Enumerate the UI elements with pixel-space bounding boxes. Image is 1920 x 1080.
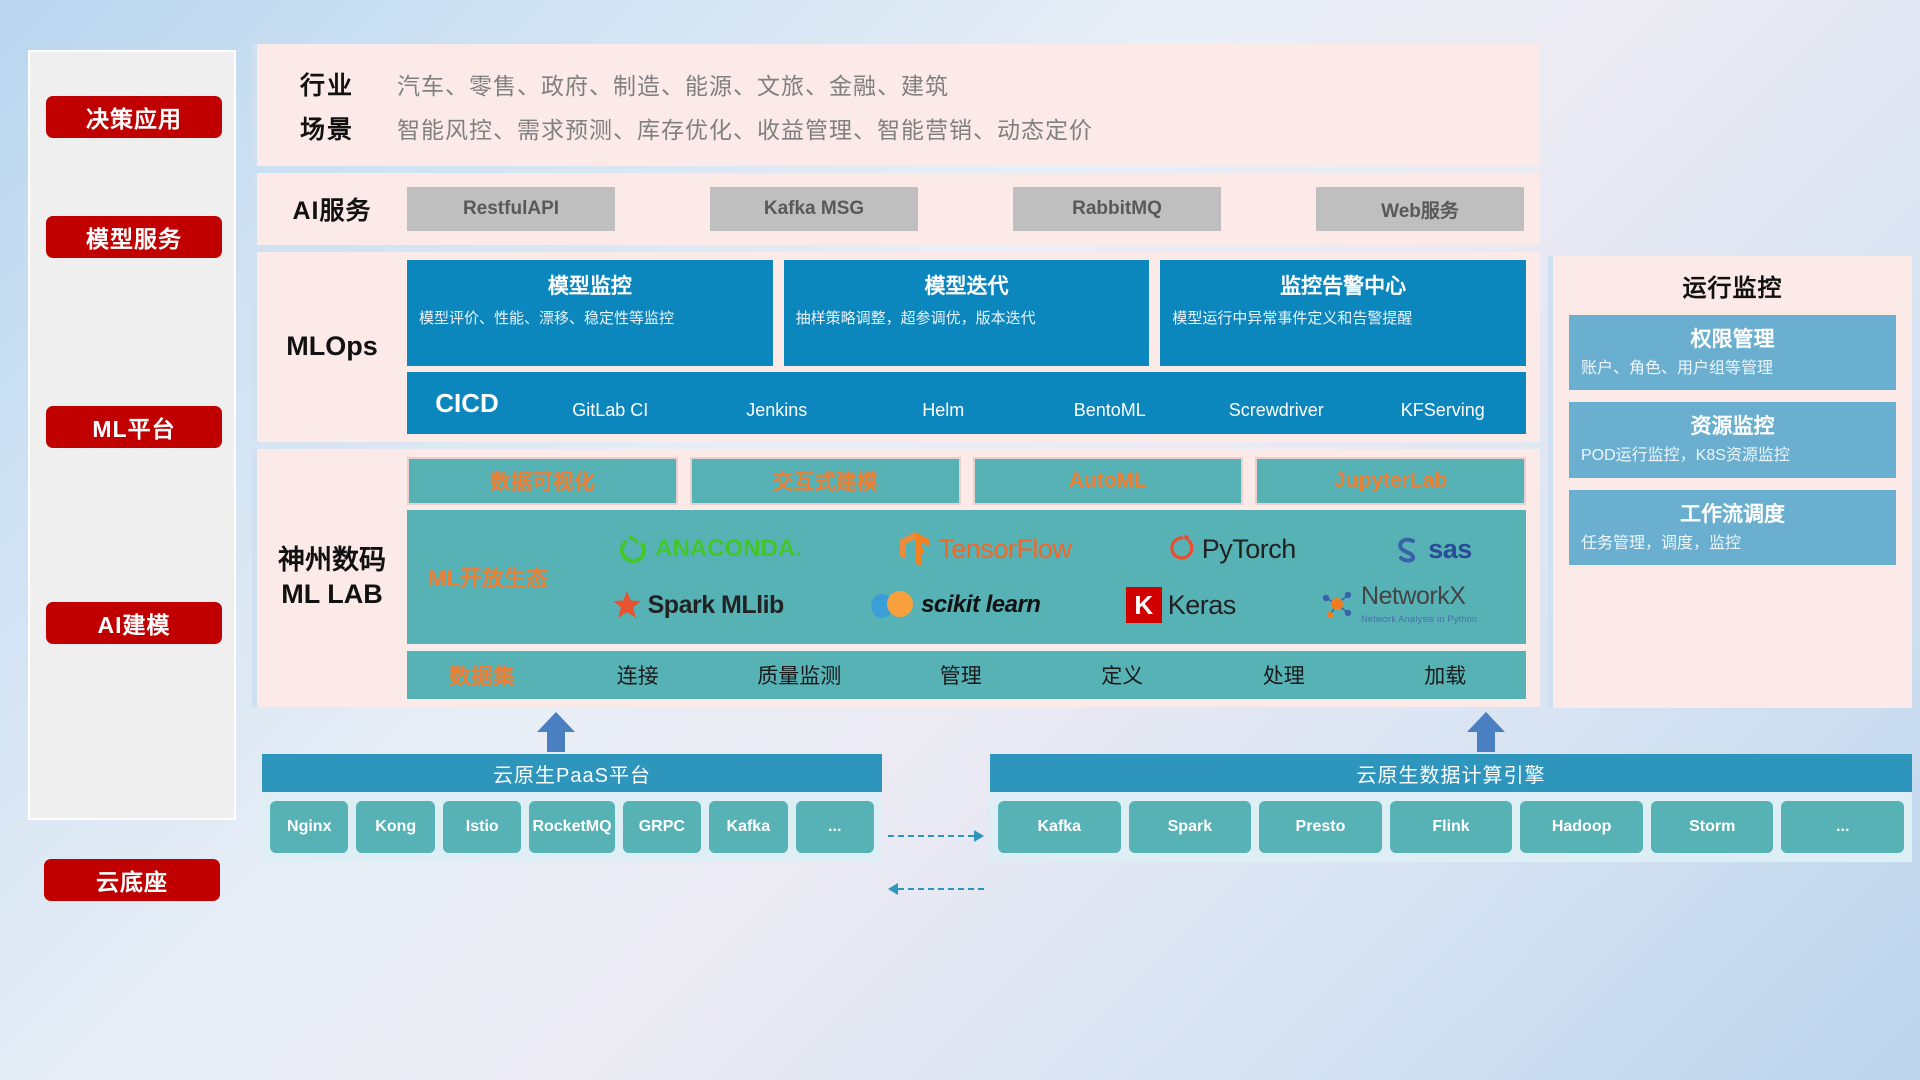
paas-chip-kong[interactable]: Kong [356,801,434,853]
industry-row: 行业 汽车、零售、政府、制造、能源、文旅、金融、建筑 [257,62,1540,106]
lab-tool-data-visualization[interactable]: 数据可视化 [407,457,678,505]
pytorch-icon [1168,533,1196,565]
monitor-card-workflow[interactable]: 工作流调度 任务管理，调度，监控 [1569,490,1896,565]
cicd-bar: CICD GitLab CI Jenkins Helm BentoML Scre… [407,372,1526,434]
mlops-card-model-iteration[interactable]: 模型迭代 抽样策略调整，超参调优，版本迭代 [784,260,1150,366]
card-title: 模型监控 [419,270,761,300]
spark-mllib-logo: Spark MLlib [612,590,784,620]
engine-chip-storm[interactable]: Storm [1651,801,1774,853]
dataset-item-connect[interactable]: 连接 [557,660,719,690]
mlops-card-model-monitoring[interactable]: 模型监控 模型评价、性能、漂移、稳定性等监控 [407,260,773,366]
keras-icon: K [1126,587,1162,623]
dataset-label: 数据集 [407,659,557,691]
industry-label: 行业 [257,66,397,102]
ml-ecosystem-logos: ANACONDA. TensorFlow [569,522,1520,632]
sas-logo: sas [1392,534,1472,565]
dataset-item-loading[interactable]: 加载 [1365,660,1527,690]
pytorch-logo-text: PyTorch [1202,534,1296,565]
ml-lab-label-line1: 神州数码 [278,545,386,575]
ai-service-chip-rabbitmq[interactable]: RabbitMQ [1013,187,1221,231]
cicd-item-gitlab-ci[interactable]: GitLab CI [527,400,694,421]
ml-lab-label: 神州数码 ML LAB [257,457,407,699]
card-desc: 账户、角色、用户组等管理 [1581,358,1884,380]
rail-item-ml-platform[interactable]: ML平台 [46,406,222,448]
dataset-row: 数据集 连接 质量监测 管理 定义 处理 加载 [407,649,1526,699]
pytorch-logo: PyTorch [1168,533,1296,565]
cicd-item-screwdriver[interactable]: Screwdriver [1193,400,1360,421]
ai-service-chip-kafka-msg[interactable]: Kafka MSG [710,187,918,231]
ml-ecosystem-label: ML开放生态 [413,561,563,593]
sas-icon [1392,534,1422,564]
logo-line-1: ANACONDA. TensorFlow [569,522,1520,576]
ml-lab-label-line2: ML LAB [281,579,383,609]
dataset-items: 连接 质量监测 管理 定义 处理 加载 [557,660,1526,690]
sas-logo-text: sas [1428,534,1472,565]
engine-title: 云原生数据计算引擎 [990,754,1912,792]
card-title: 权限管理 [1581,323,1884,353]
card-desc: 任务管理，调度，监控 [1581,533,1884,555]
rail-item-model-service[interactable]: 模型服务 [46,216,222,258]
ml-lab-tools: 数据可视化 交互式建模 AutoML JupyterLab [407,457,1526,505]
engine-chips: Kafka Spark Presto Flink Hadoop Storm ..… [990,792,1912,862]
cloud-base-section: 云原生PaaS平台 Nginx Kong Istio RocketMQ GRPC… [252,712,1912,862]
ai-service-label: AI服务 [257,191,407,227]
cicd-title: CICD [407,388,527,419]
logo-line-2: Spark MLlib scikit learn K Keras [569,578,1520,632]
decision-application-band: 行业 汽车、零售、政府、制造、能源、文旅、金融、建筑 场景 智能风控、需求预测、… [252,44,1540,166]
rail-item-cloud-base[interactable]: 云底座 [44,859,220,901]
anaconda-logo-text: ANACONDA. [655,535,802,563]
run-monitor-sidebar: 运行监控 权限管理 账户、角色、用户组等管理 资源监控 POD运行监控，K8S资… [1548,256,1912,708]
rail-item-label: ML平台 [92,410,175,444]
paas-chip-nginx[interactable]: Nginx [270,801,348,853]
dashed-arrow-left [888,888,984,890]
monitor-card-permission[interactable]: 权限管理 账户、角色、用户组等管理 [1569,315,1896,390]
card-desc: 抽样策略调整，超参调优，版本迭代 [796,308,1138,330]
paas-panel: 云原生PaaS平台 Nginx Kong Istio RocketMQ GRPC… [262,754,882,862]
engine-panel: 云原生数据计算引擎 Kafka Spark Presto Flink Hadoo… [990,754,1912,862]
dataset-item-processing[interactable]: 处理 [1203,660,1365,690]
dataset-item-management[interactable]: 管理 [880,660,1042,690]
card-desc: POD运行监控，K8S资源监控 [1581,445,1884,467]
networkx-logo-subtitle: Network Analysis in Python [1361,614,1477,624]
ml-ecosystem-row: ML开放生态 ANACONDA. [407,510,1526,644]
paas-chip-rocketmq[interactable]: RocketMQ [529,801,614,853]
ai-service-band: AI服务 RestfulAPI Kafka MSG RabbitMQ Web服务 [252,173,1540,245]
paas-chips: Nginx Kong Istio RocketMQ GRPC Kafka ... [262,792,882,862]
scikit-learn-logo: scikit learn [869,590,1040,620]
dataset-item-quality-monitoring[interactable]: 质量监测 [719,660,881,690]
rail-item-decision-app[interactable]: 决策应用 [46,96,222,138]
industry-values: 汽车、零售、政府、制造、能源、文旅、金融、建筑 [397,67,949,101]
keras-logo-text: Keras [1168,590,1236,621]
architecture-main: 行业 汽车、零售、政府、制造、能源、文旅、金融、建筑 场景 智能风控、需求预测、… [252,44,1540,714]
card-title: 模型迭代 [796,270,1138,300]
lab-tool-interactive-modeling[interactable]: 交互式建模 [690,457,961,505]
cicd-items: GitLab CI Jenkins Helm BentoML Screwdriv… [527,386,1526,421]
networkx-icon [1321,589,1355,621]
monitor-card-resource[interactable]: 资源监控 POD运行监控，K8S资源监控 [1569,402,1896,477]
card-title: 工作流调度 [1581,498,1884,528]
engine-chip-flink[interactable]: Flink [1390,801,1513,853]
rail-item-label: 决策应用 [86,100,182,134]
paas-title: 云原生PaaS平台 [262,754,882,792]
anaconda-icon [617,533,649,565]
ml-lab-band: 神州数码 ML LAB 数据可视化 交互式建模 AutoML JupyterLa… [252,449,1540,707]
card-desc: 模型评价、性能、漂移、稳定性等监控 [419,308,761,330]
ai-service-chip-restfulapi[interactable]: RestfulAPI [407,187,615,231]
mlops-card-alert-center[interactable]: 监控告警中心 模型运行中异常事件定义和告警提醒 [1160,260,1526,366]
scenario-row: 场景 智能风控、需求预测、库存优化、收益管理、智能营销、动态定价 [257,106,1540,150]
card-title: 资源监控 [1581,410,1884,440]
paas-chip-more[interactable]: ... [796,801,874,853]
ml-lab-content: 数据可视化 交互式建模 AutoML JupyterLab ML开放生态 ANA… [407,457,1540,699]
run-monitor-title: 运行监控 [1569,268,1896,303]
card-desc: 模型运行中异常事件定义和告警提醒 [1172,308,1514,330]
anaconda-logo: ANACONDA. [617,533,802,565]
rail-item-ai-modeling[interactable]: AI建模 [46,602,222,644]
paas-chip-grpc[interactable]: GRPC [623,801,701,853]
card-title: 监控告警中心 [1172,270,1514,300]
cicd-item-kfserving[interactable]: KFServing [1360,400,1527,421]
mlops-band: MLOps 模型监控 模型评价、性能、漂移、稳定性等监控 模型迭代 抽样策略调整… [252,252,1540,442]
engine-chip-spark[interactable]: Spark [1129,801,1252,853]
scikit-learn-icon [869,590,915,620]
ai-service-chip-web-service[interactable]: Web服务 [1316,187,1524,231]
dashed-arrow-right [888,835,984,837]
engine-chip-hadoop[interactable]: Hadoop [1520,801,1643,853]
scenario-values: 智能风控、需求预测、库存优化、收益管理、智能营销、动态定价 [397,111,1093,145]
engine-chip-kafka[interactable]: Kafka [998,801,1121,853]
rail-item-label: 模型服务 [86,220,182,254]
scenario-label: 场景 [257,110,397,146]
keras-logo: K Keras [1126,587,1236,623]
ai-service-items: RestfulAPI Kafka MSG RabbitMQ Web服务 [407,187,1540,231]
mlops-content: 模型监控 模型评价、性能、漂移、稳定性等监控 模型迭代 抽样策略调整，超参调优，… [407,260,1540,434]
paas-chip-istio[interactable]: Istio [443,801,521,853]
cicd-item-jenkins[interactable]: Jenkins [694,400,861,421]
engine-chip-presto[interactable]: Presto [1259,801,1382,853]
spark-star-icon [612,590,642,620]
networkx-logo: NetworkX Network Analysis in Python [1321,583,1477,626]
scikit-learn-logo-text: scikit learn [921,591,1040,619]
mlops-cards: 模型监控 模型评价、性能、漂移、稳定性等监控 模型迭代 抽样策略调整，超参调优，… [407,260,1526,366]
paas-chip-kafka[interactable]: Kafka [709,801,787,853]
mlops-label: MLOps [257,260,407,434]
tensorflow-logo-text: TensorFlow [938,534,1071,565]
networkx-logo-text: NetworkX [1361,582,1465,610]
tensorflow-logo: TensorFlow [898,530,1071,568]
cicd-item-bentoml[interactable]: BentoML [1027,400,1194,421]
lab-tool-automl[interactable]: AutoML [973,457,1244,505]
tensorflow-icon [898,530,932,568]
rail-item-label: 云底座 [96,863,168,897]
spark-mllib-logo-text: Spark MLlib [648,591,784,620]
engine-chip-more[interactable]: ... [1781,801,1904,853]
left-rail: 决策应用 模型服务 ML平台 AI建模 [28,50,236,820]
rail-item-label: AI建模 [98,606,171,640]
cicd-item-helm[interactable]: Helm [860,400,1027,421]
dataset-item-definition[interactable]: 定义 [1042,660,1204,690]
lab-tool-jupyterlab[interactable]: JupyterLab [1255,457,1526,505]
